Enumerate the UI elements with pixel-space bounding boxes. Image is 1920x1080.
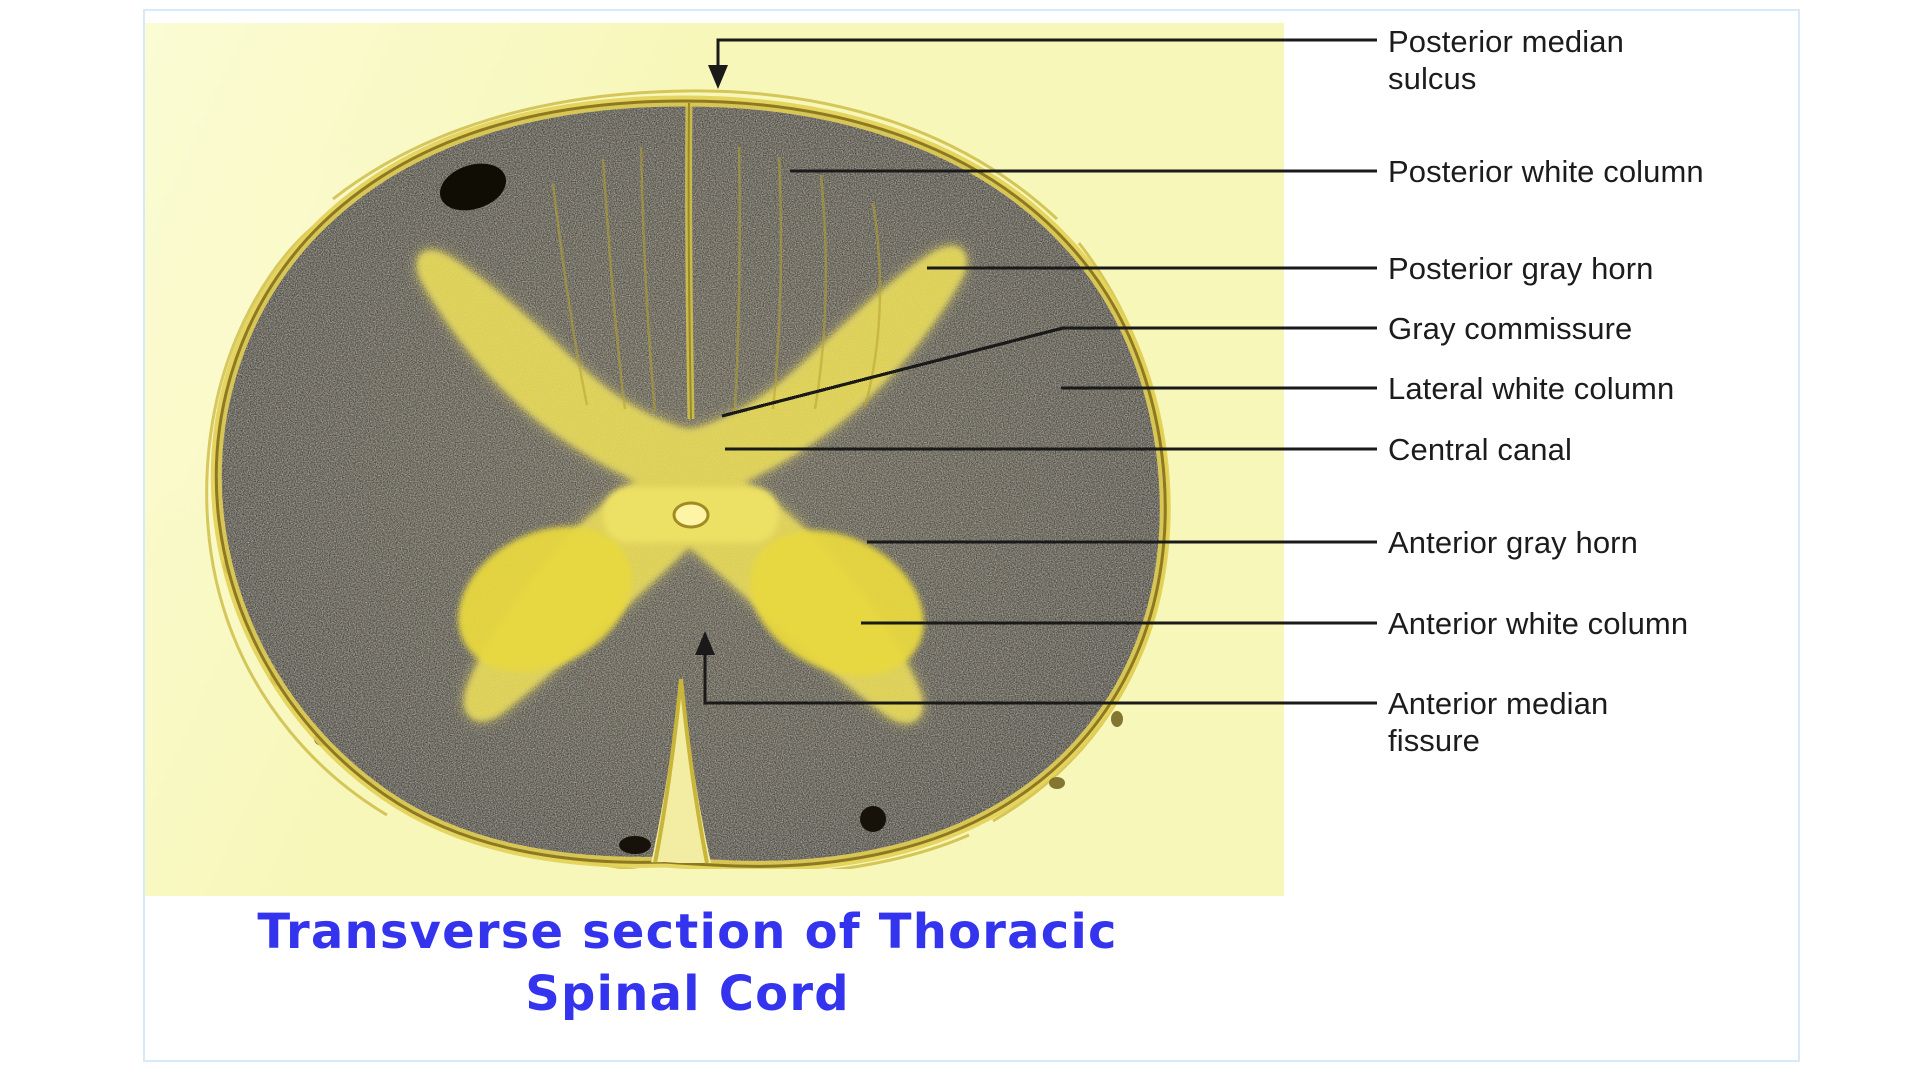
spinal-cord-svg xyxy=(173,79,1195,869)
figure-title: Transverse section of Thoracic Spinal Co… xyxy=(145,901,1230,1025)
label-posterior-median-sulcus: Posterior median sulcus xyxy=(1388,23,1624,97)
screenshot-root: Posterior median sulcus Posterior white … xyxy=(0,0,1920,1080)
label-anterior-white-column: Anterior white column xyxy=(1388,605,1688,642)
label-anterior-median-fissure: Anterior median fissure xyxy=(1388,685,1608,759)
figure-card: Posterior median sulcus Posterior white … xyxy=(143,9,1800,1062)
label-lateral-white-column: Lateral white column xyxy=(1388,370,1674,407)
label-gray-commissure: Gray commissure xyxy=(1388,310,1632,347)
label-posterior-white-column: Posterior white column xyxy=(1388,153,1704,190)
spinal-cord-section xyxy=(173,79,1195,869)
figure-title-line-2: Spinal Cord xyxy=(145,963,1230,1025)
label-anterior-gray-horn: Anterior gray horn xyxy=(1388,524,1638,561)
spinal-cord-photomicrograph xyxy=(145,23,1284,896)
label-posterior-gray-horn: Posterior gray horn xyxy=(1388,250,1654,287)
label-central-canal: Central canal xyxy=(1388,431,1572,468)
posterior-median-septum xyxy=(689,103,691,419)
figure-title-line-1: Transverse section of Thoracic xyxy=(145,901,1230,963)
